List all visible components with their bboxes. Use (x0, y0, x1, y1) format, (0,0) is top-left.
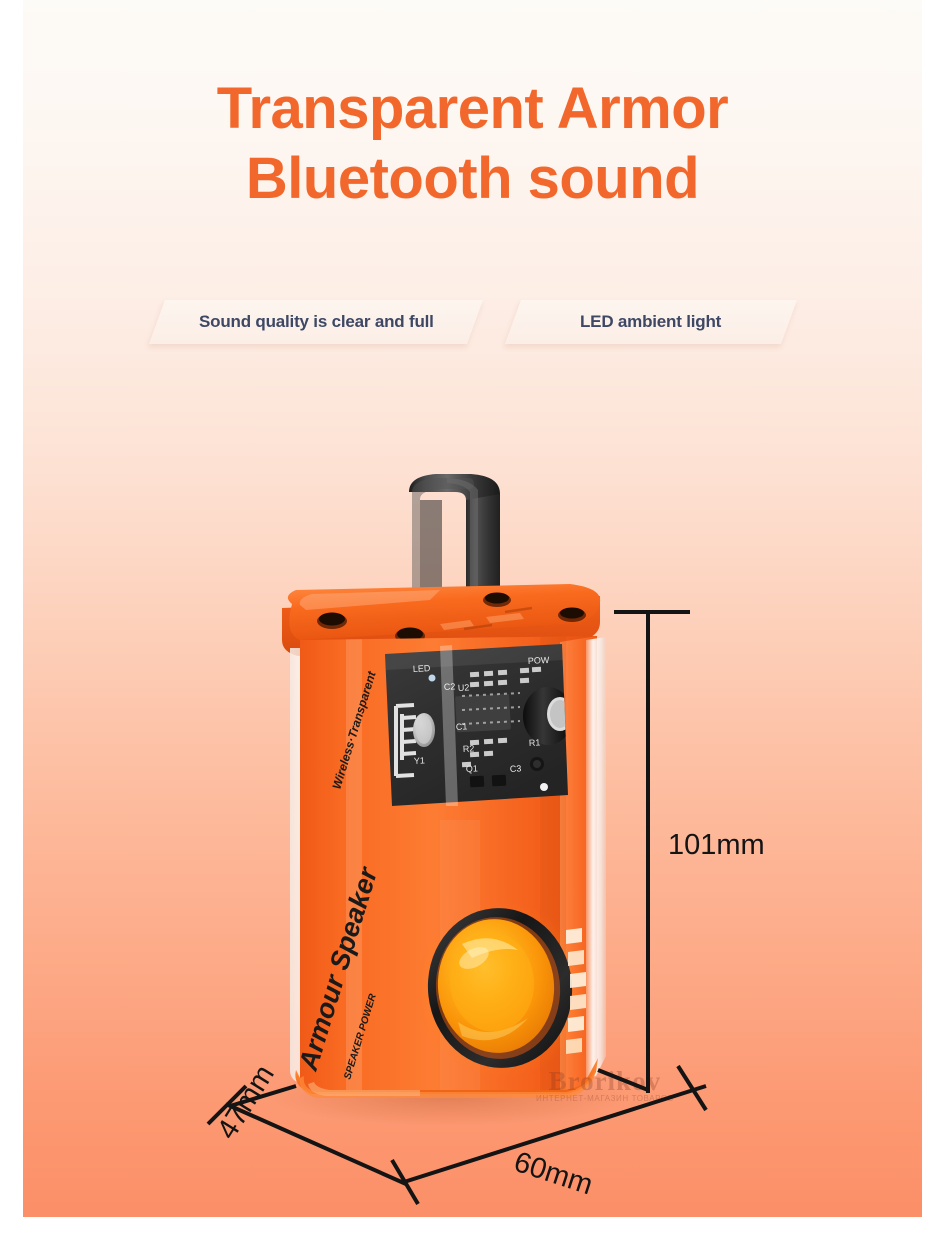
product-marketing-image: Transparent Armor Bluetooth sound Sound … (0, 0, 945, 1233)
feature-badge-sound-quality: Sound quality is clear and full (148, 300, 482, 344)
title-line-2: Bluetooth sound (0, 144, 945, 214)
feature-badge-label: LED ambient light (580, 312, 721, 332)
feature-badge-row: Sound quality is clear and full LED ambi… (0, 300, 945, 344)
title-line-1: Transparent Armor (0, 74, 945, 144)
feature-badge-label: Sound quality is clear and full (198, 312, 433, 332)
feature-badge-led-light: LED ambient light (504, 300, 796, 344)
page-title: Transparent Armor Bluetooth sound (0, 74, 945, 214)
dimension-label-height: 101mm (668, 829, 765, 862)
